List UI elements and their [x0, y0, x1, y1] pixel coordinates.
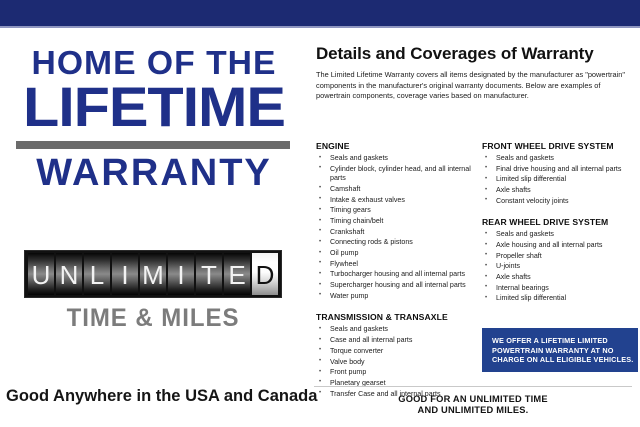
- right-details-panel: Details and Coverages of Warranty The Li…: [306, 28, 640, 427]
- list-item: Final drive housing and all internal par…: [482, 165, 638, 175]
- left-hero-panel: HOME OF THE LIFETIME WARRANTY UNLIMITED …: [0, 28, 306, 427]
- list-item: Torque converter: [316, 347, 472, 357]
- top-navy-bar: [0, 0, 640, 26]
- odometer-cell-7: E: [224, 253, 250, 295]
- callout-line-1: WE OFFER A LIFETIME LIMITED: [492, 336, 638, 346]
- section-list-rear-wheel-drive: Seals and gasketsAxle housing and all in…: [482, 230, 638, 304]
- odometer-cell-3: I: [112, 253, 138, 295]
- list-item: Limited slip differential: [482, 294, 638, 304]
- details-intro-paragraph: The Limited Lifetime Warranty covers all…: [316, 70, 633, 102]
- list-item: Camshaft: [316, 185, 472, 195]
- odometer-cell-1: N: [56, 253, 82, 295]
- list-item: Oil pump: [316, 249, 472, 259]
- odometer-cell-5: I: [168, 253, 194, 295]
- coverage-section-rear-wheel-drive: REAR WHEEL DRIVE SYSTEMSeals and gaskets…: [482, 216, 638, 304]
- details-title: Details and Coverages of Warranty: [316, 44, 636, 64]
- list-item: U-joints: [482, 262, 638, 272]
- list-item: Propeller shaft: [482, 252, 638, 262]
- odometer-graphic: UNLIMITED: [24, 250, 282, 298]
- list-item: Constant velocity joints: [482, 197, 638, 207]
- list-item: Flywheel: [316, 260, 472, 270]
- callout-line-2: POWERTRAIN WARRANTY AT NO: [492, 346, 638, 356]
- list-item: Cylinder block, cylinder head, and all i…: [316, 165, 472, 184]
- list-item: Water pump: [316, 292, 472, 302]
- section-title-front-wheel-drive: FRONT WHEEL DRIVE SYSTEM: [482, 140, 638, 152]
- section-title-transmission: TRANSMISSION & TRANSAXLE: [316, 311, 472, 323]
- list-item: Timing gears: [316, 206, 472, 216]
- list-item: Case and all internal parts: [316, 336, 472, 346]
- list-item: Seals and gaskets: [482, 230, 638, 240]
- list-item: Seals and gaskets: [482, 154, 638, 164]
- list-item: Crankshaft: [316, 228, 472, 238]
- odometer-cell-4: M: [140, 253, 166, 295]
- list-item: Planetary gearset: [316, 379, 472, 389]
- section-list-transmission: Seals and gasketsCase and all internal p…: [316, 325, 472, 399]
- footer-line-2: AND UNLIMITED MILES.: [314, 405, 632, 417]
- list-item: Axle shafts: [482, 273, 638, 283]
- headline-warranty: WARRANTY: [10, 152, 298, 194]
- odometer-cell-2: L: [84, 253, 110, 295]
- section-title-engine: ENGINE: [316, 140, 472, 152]
- tagline-good-anywhere: Good Anywhere in the USA and Canada: [6, 386, 300, 406]
- section-title-rear-wheel-drive: REAR WHEEL DRIVE SYSTEM: [482, 216, 638, 228]
- list-item: Supercharger housing and all internal pa…: [316, 281, 472, 291]
- list-item: Intake & exhaust valves: [316, 196, 472, 206]
- list-item: Axle shafts: [482, 186, 638, 196]
- odometer-caption: TIME & MILES: [29, 304, 277, 332]
- section-list-front-wheel-drive: Seals and gasketsFinal drive housing and…: [482, 154, 638, 206]
- list-item: Valve body: [316, 358, 472, 368]
- headline-divider-rule: [16, 141, 290, 149]
- list-item: Internal bearings: [482, 284, 638, 294]
- odometer-cell-0: U: [28, 253, 54, 295]
- callout-line-3: CHARGE ON ALL ELIGIBLE VEHICLES.: [492, 355, 638, 365]
- list-item: Turbocharger housing and all internal pa…: [316, 270, 472, 280]
- footer-line-1: GOOD FOR AN UNLIMITED TIME: [314, 394, 632, 406]
- list-item: Limited slip differential: [482, 175, 638, 185]
- list-item: Axle housing and all internal parts: [482, 241, 638, 251]
- coverage-section-engine: ENGINESeals and gasketsCylinder block, c…: [316, 140, 472, 301]
- odometer-cell-6: T: [196, 253, 222, 295]
- list-item: Seals and gaskets: [316, 154, 472, 164]
- offer-callout-box: WE OFFER A LIFETIME LIMITED POWERTRAIN W…: [482, 328, 638, 372]
- coverage-section-front-wheel-drive: FRONT WHEEL DRIVE SYSTEMSeals and gasket…: [482, 140, 638, 206]
- footer-divider-rule: [314, 386, 632, 387]
- coverage-column-left: ENGINESeals and gasketsCylinder block, c…: [316, 140, 472, 409]
- odometer-cell-8: D: [252, 253, 278, 295]
- warranty-advertisement: HOME OF THE LIFETIME WARRANTY UNLIMITED …: [0, 0, 640, 427]
- headline-lifetime: LIFETIME: [0, 78, 309, 136]
- list-item: Timing chain/belt: [316, 217, 472, 227]
- list-item: Connecting rods & pistons: [316, 238, 472, 248]
- list-item: Seals and gaskets: [316, 325, 472, 335]
- list-item: Front pump: [316, 368, 472, 378]
- section-list-engine: Seals and gasketsCylinder block, cylinde…: [316, 154, 472, 301]
